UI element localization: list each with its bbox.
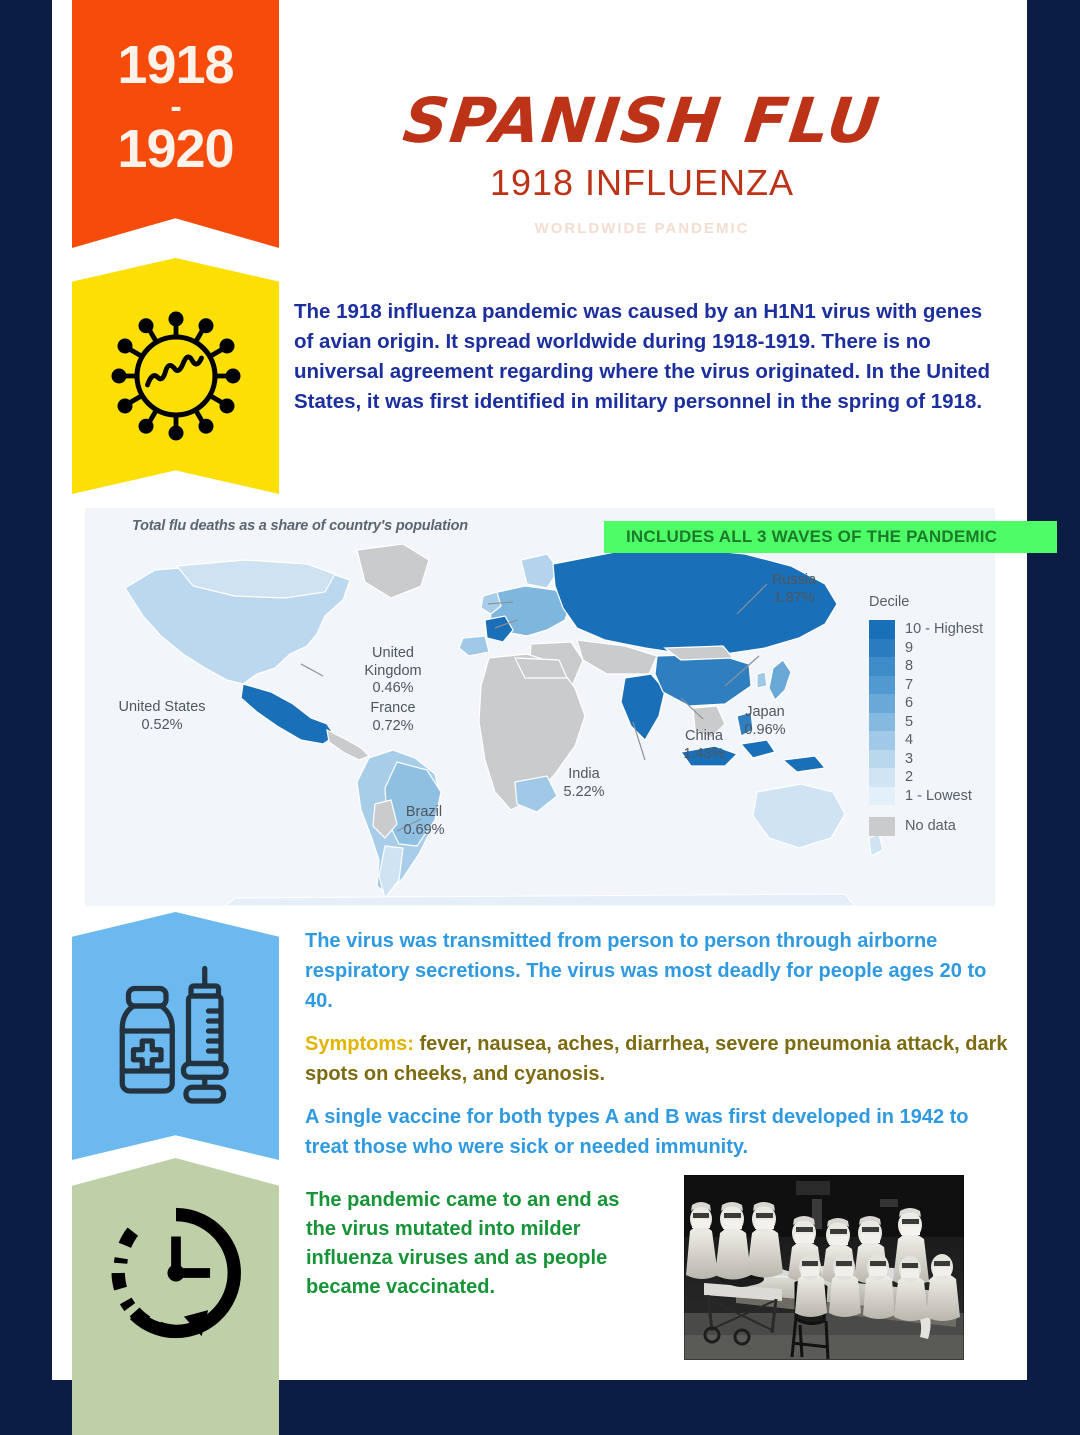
- waves-callout-banner: INCLUDES ALL 3 WAVES OF THE PANDEMIC: [604, 521, 1057, 553]
- intro-ribbon: [72, 258, 279, 494]
- legend-swatch: [869, 750, 895, 769]
- map-label-india: India 5.22%: [545, 766, 623, 801]
- legend-item[interactable]: 2: [869, 768, 994, 787]
- legend-swatch: [869, 676, 895, 695]
- legend-item[interactable]: 3: [869, 750, 994, 769]
- legend-swatch: [869, 768, 895, 787]
- map-legend: Decile 10 - Highest 9 8 7 6: [869, 594, 994, 836]
- legend-item[interactable]: 6: [869, 694, 994, 713]
- conclusion-text: The pandemic came to an end as the virus…: [306, 1186, 651, 1302]
- conclusion-ribbon: [72, 1158, 279, 1435]
- page-subtitle: 1918 INFLUENZA: [292, 162, 992, 204]
- legend-label: 5: [905, 713, 913, 732]
- legend-label: 9: [905, 639, 913, 658]
- legend-item[interactable]: 7: [869, 676, 994, 695]
- poster-header: SPANISH FLU 1918 INFLUENZA WORLDWIDE PAN…: [292, 86, 992, 237]
- legend-item[interactable]: 5: [869, 713, 994, 732]
- legend-title: Decile: [869, 594, 994, 610]
- legend-label: 1 - Lowest: [905, 787, 972, 806]
- virus-icon: [101, 301, 251, 451]
- transmission-text-block: The virus was transmitted from person to…: [305, 926, 1015, 1175]
- legend-item-no-data[interactable]: No data: [869, 817, 994, 836]
- map-label-china: China 1.43%: [665, 728, 743, 763]
- legend-item[interactable]: 10 - Highest: [869, 620, 994, 639]
- transmission-paragraph-3: A single vaccine for both types A and B …: [305, 1102, 1015, 1162]
- year-ribbon: 1918 - 1920: [72, 0, 279, 248]
- start-year: 1918: [117, 36, 233, 94]
- end-year: 1920: [117, 120, 233, 178]
- symptoms-paragraph: Symptoms: fever, nausea, aches, diarrhea…: [305, 1029, 1015, 1089]
- legend-swatch-no-data: [869, 817, 895, 836]
- clock-icon: [103, 1200, 249, 1346]
- legend-label: 6: [905, 694, 913, 713]
- legend-swatch: [869, 731, 895, 750]
- legend-label: 10 - Highest: [905, 620, 983, 639]
- legend-swatch: [869, 620, 895, 639]
- symptoms-label: Symptoms:: [305, 1033, 414, 1055]
- map-label-united-kingdom: United Kingdom 0.46%: [347, 645, 439, 698]
- year-dash: -: [117, 94, 233, 120]
- map-label-russia: Russia 1.87%: [752, 572, 836, 607]
- map-label-france: France 0.72%: [351, 700, 435, 735]
- historic-photo: [684, 1175, 964, 1360]
- legend-swatch: [869, 694, 895, 713]
- world-map-panel: Total flu deaths as a share of country's…: [85, 508, 995, 906]
- transmission-ribbon: [72, 912, 279, 1160]
- page-faint-line: WORLDWIDE PANDEMIC: [292, 220, 992, 237]
- legend-swatch: [869, 657, 895, 676]
- map-label-brazil: Brazil 0.69%: [382, 804, 466, 839]
- legend-label: 7: [905, 676, 913, 695]
- legend-swatch: [869, 639, 895, 658]
- legend-item[interactable]: 4: [869, 731, 994, 750]
- intro-paragraph: The 1918 influenza pandemic was caused b…: [294, 297, 999, 417]
- legend-label: 8: [905, 657, 913, 676]
- poster-canvas: 1918 - 1920 SPANISH FLU 1918 INFLUENZA W…: [0, 0, 1080, 1435]
- legend-label: 2: [905, 768, 913, 787]
- legend-label: 4: [905, 731, 913, 750]
- legend-swatch: [869, 787, 895, 806]
- page-title: SPANISH FLU: [288, 86, 997, 156]
- transmission-paragraph-1: The virus was transmitted from person to…: [305, 926, 1015, 1016]
- legend-item[interactable]: 1 - Lowest: [869, 787, 994, 806]
- legend-label: No data: [905, 817, 956, 836]
- vaccine-syringe-icon: [101, 961, 251, 1111]
- legend-swatch: [869, 713, 895, 732]
- legend-label: 3: [905, 750, 913, 769]
- legend-item[interactable]: 9: [869, 639, 994, 658]
- legend-item[interactable]: 8: [869, 657, 994, 676]
- map-label-united-states: United States 0.52%: [101, 699, 223, 734]
- year-range: 1918 - 1920: [117, 36, 233, 178]
